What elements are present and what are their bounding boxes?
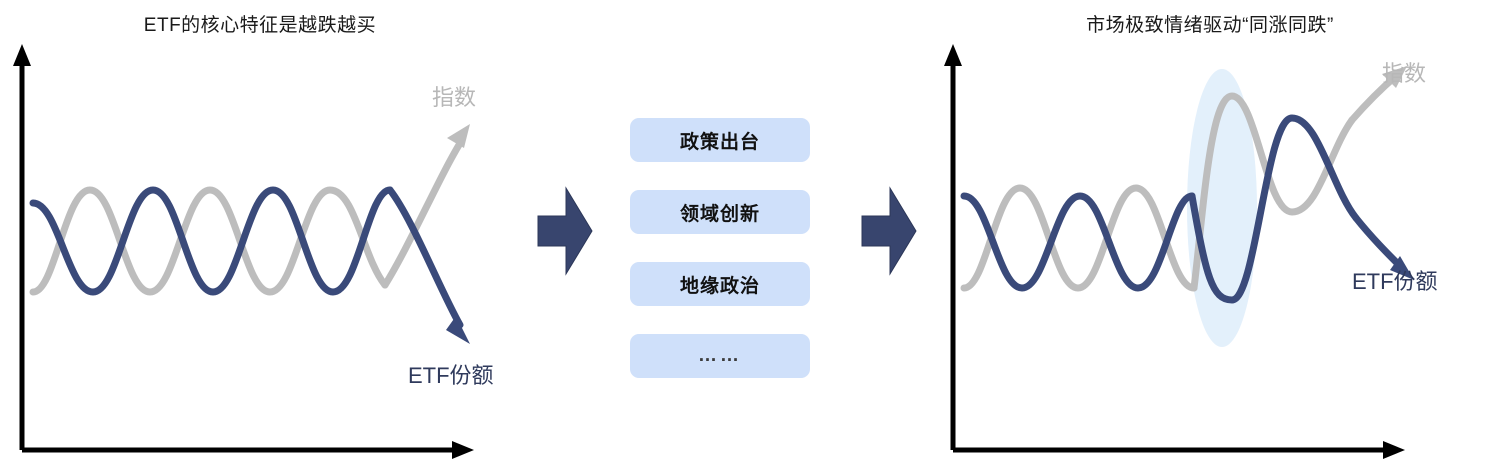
tag-box-policy-label: 政策出台 xyxy=(680,127,760,154)
tag-box-innovation-label: 领域创新 xyxy=(680,199,760,226)
tag-box-geopolitics[interactable]: 地缘政治 xyxy=(630,262,810,306)
fat-right-arrow-icon-right xyxy=(860,186,918,276)
left-index-label: 指数 xyxy=(432,80,476,112)
tag-box-more-label: …… xyxy=(698,345,742,367)
right-etf-label: ETF份额 xyxy=(1352,264,1438,296)
left-etf-label: ETF份额 xyxy=(408,358,494,390)
right-chart-panel: 市场极致情绪驱动“同涨同跌” xyxy=(920,0,1500,459)
middle-connector-panel: 政策出台 领域创新 地缘政治 …… xyxy=(520,0,920,459)
left-y-axis xyxy=(13,44,31,450)
left-chart-panel: ETF的核心特征是越跌越买 xyxy=(0,0,520,459)
tag-box-more[interactable]: …… xyxy=(630,334,810,378)
diagram-canvas: ETF的核心特征是越跌越买 xyxy=(0,0,1500,459)
left-chart-graphic xyxy=(0,0,520,459)
right-index-series xyxy=(964,66,1407,288)
right-y-axis xyxy=(944,44,962,450)
tag-box-policy[interactable]: 政策出台 xyxy=(630,118,810,162)
right-x-axis xyxy=(953,441,1405,459)
tag-box-innovation[interactable]: 领域创新 xyxy=(630,190,810,234)
tag-box-geopolitics-label: 地缘政治 xyxy=(680,271,760,298)
fat-right-arrow-icon-left xyxy=(536,186,594,276)
right-index-label: 指数 xyxy=(1382,56,1426,88)
driver-tag-list: 政策出台 领域创新 地缘政治 …… xyxy=(630,118,810,406)
left-x-axis xyxy=(22,441,474,459)
